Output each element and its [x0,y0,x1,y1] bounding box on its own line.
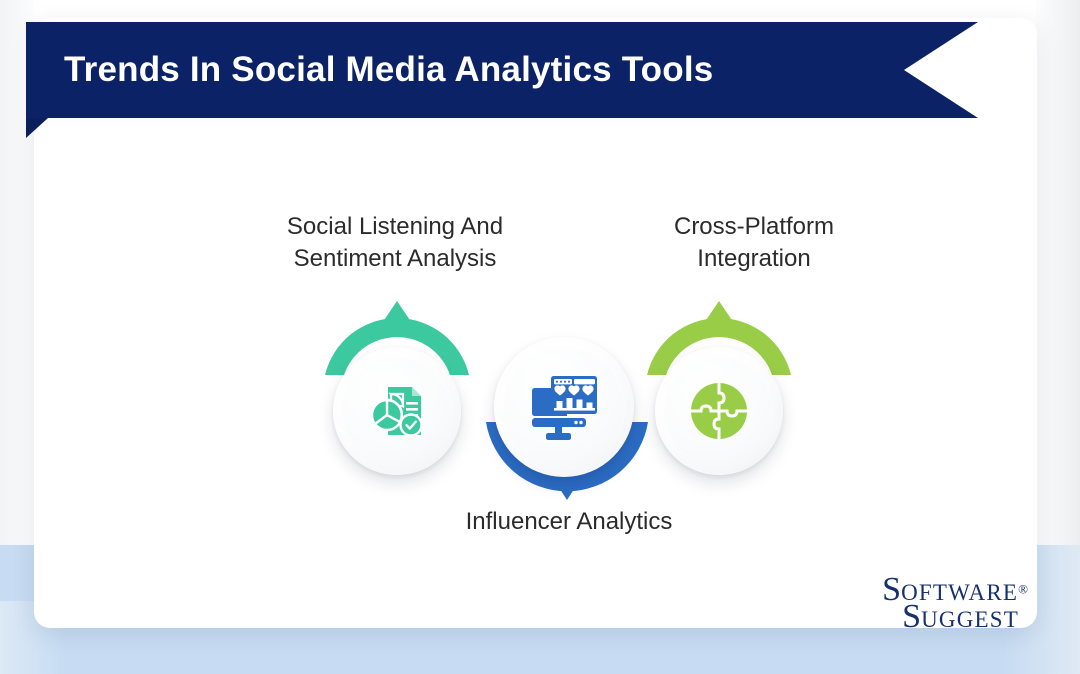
ribbon-fold [26,118,48,138]
page-title: Trends In Social Media Analytics Tools [64,50,713,90]
logo-s-cap-2: S [902,598,921,635]
registered-mark-icon: ® [1018,582,1028,597]
ribbon-body: Trends In Social Media Analytics Tools [26,22,978,118]
softwaresuggest-logo: SOFTWARE® SUGGEST [882,573,1028,634]
logo-suggest-text: UGGEST [921,607,1019,632]
logo-line-2: SUGGEST [902,600,1028,634]
title-ribbon: Trends In Social Media Analytics Tools [26,22,1006,128]
logo-s-cap-1: S [882,571,901,608]
page-background: Trends In Social Media Analytics Tools S… [0,0,1080,674]
